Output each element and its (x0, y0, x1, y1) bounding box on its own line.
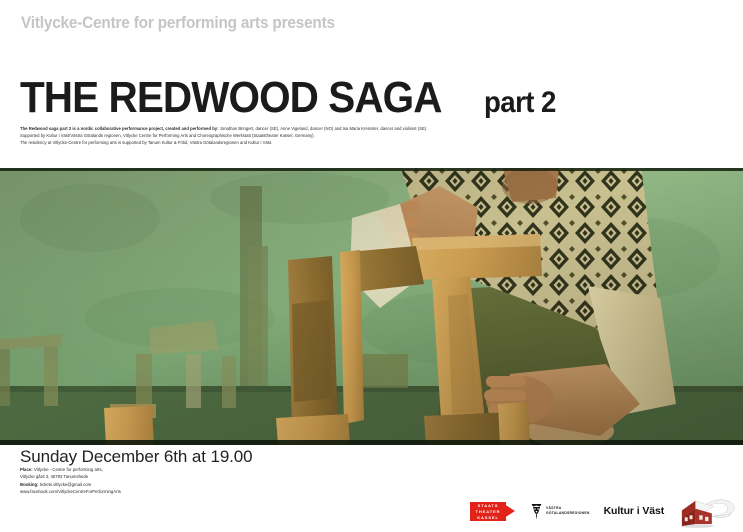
event-details: Place: Vitlycke - Centre for performing … (20, 466, 121, 496)
credits-performers: Jonathan Bringert, dancer (SE), Anne Vig… (219, 126, 428, 131)
photo-illustration (0, 168, 743, 445)
credits-line-2: Supported by Kultur i Väst/Västra Götala… (20, 133, 620, 140)
event-date: Sunday December 6th at 19.00 (20, 447, 253, 467)
credits-line-1: The Redwood saga part 2 is a nordic coll… (20, 126, 620, 133)
poster: Vitlycke-Centre for performing arts pres… (0, 0, 743, 532)
kassel-wordmark: STAATS THEATER KASSEL (470, 502, 506, 521)
credits-line-3: The residency at Vitlycke-Centre for per… (20, 140, 620, 147)
address-line: Vitlycke gård 3, 45793 Tanumshede (20, 473, 121, 480)
vgr-line-2: GÖTALANDSREGIONEN (546, 511, 590, 516)
credits-block: The Redwood saga part 2 is a nordic coll… (20, 126, 620, 146)
kassel-line-1: STAATS (471, 503, 505, 508)
credits-lead: The Redwood saga part 2 is a nordic coll… (20, 126, 219, 131)
sponsor-logos: STAATS THEATER KASSEL VÄSTRA GÖTALANDSRE… (470, 492, 735, 530)
booking-label: Booking: (20, 482, 39, 487)
kassel-arrow-icon (504, 504, 515, 518)
place-value: Vitlycke - Centre for performing arts, (33, 467, 103, 472)
performance-photo (0, 168, 743, 445)
vgr-wordmark: VÄSTRA GÖTALANDSREGIONEN (546, 506, 590, 516)
staatstheater-kassel-logo: STAATS THEATER KASSEL (470, 502, 516, 521)
vitlycke-house-icon (678, 494, 736, 528)
title-main: THE REDWOOD SAGA (20, 76, 442, 120)
booking-line: Booking: tickets.vitlycke@gmail.com (20, 481, 121, 488)
presenter-line: Vitlycke-Centre for performing arts pres… (21, 14, 335, 33)
title-part: part 2 (484, 88, 556, 118)
place-line: Place: Vitlycke - Centre for performing … (20, 466, 121, 473)
vastra-gotalandsregionen-logo: VÄSTRA GÖTALANDSREGIONEN (530, 503, 590, 519)
poster-title: THE REDWOOD SAGA part 2 (20, 76, 562, 120)
place-label: Place: (20, 467, 33, 472)
booking-email[interactable]: tickets.vitlycke@gmail.com (39, 482, 92, 487)
kassel-line-2: THEATER (471, 509, 505, 514)
kultur-i-vast-logo: Kultur i Väst (604, 505, 665, 517)
vgr-lion-icon (530, 503, 543, 519)
facebook-link[interactable]: www.facebook.com/VitlyckeCentreForPerfor… (20, 488, 121, 495)
kassel-line-3: KASSEL (471, 515, 505, 520)
